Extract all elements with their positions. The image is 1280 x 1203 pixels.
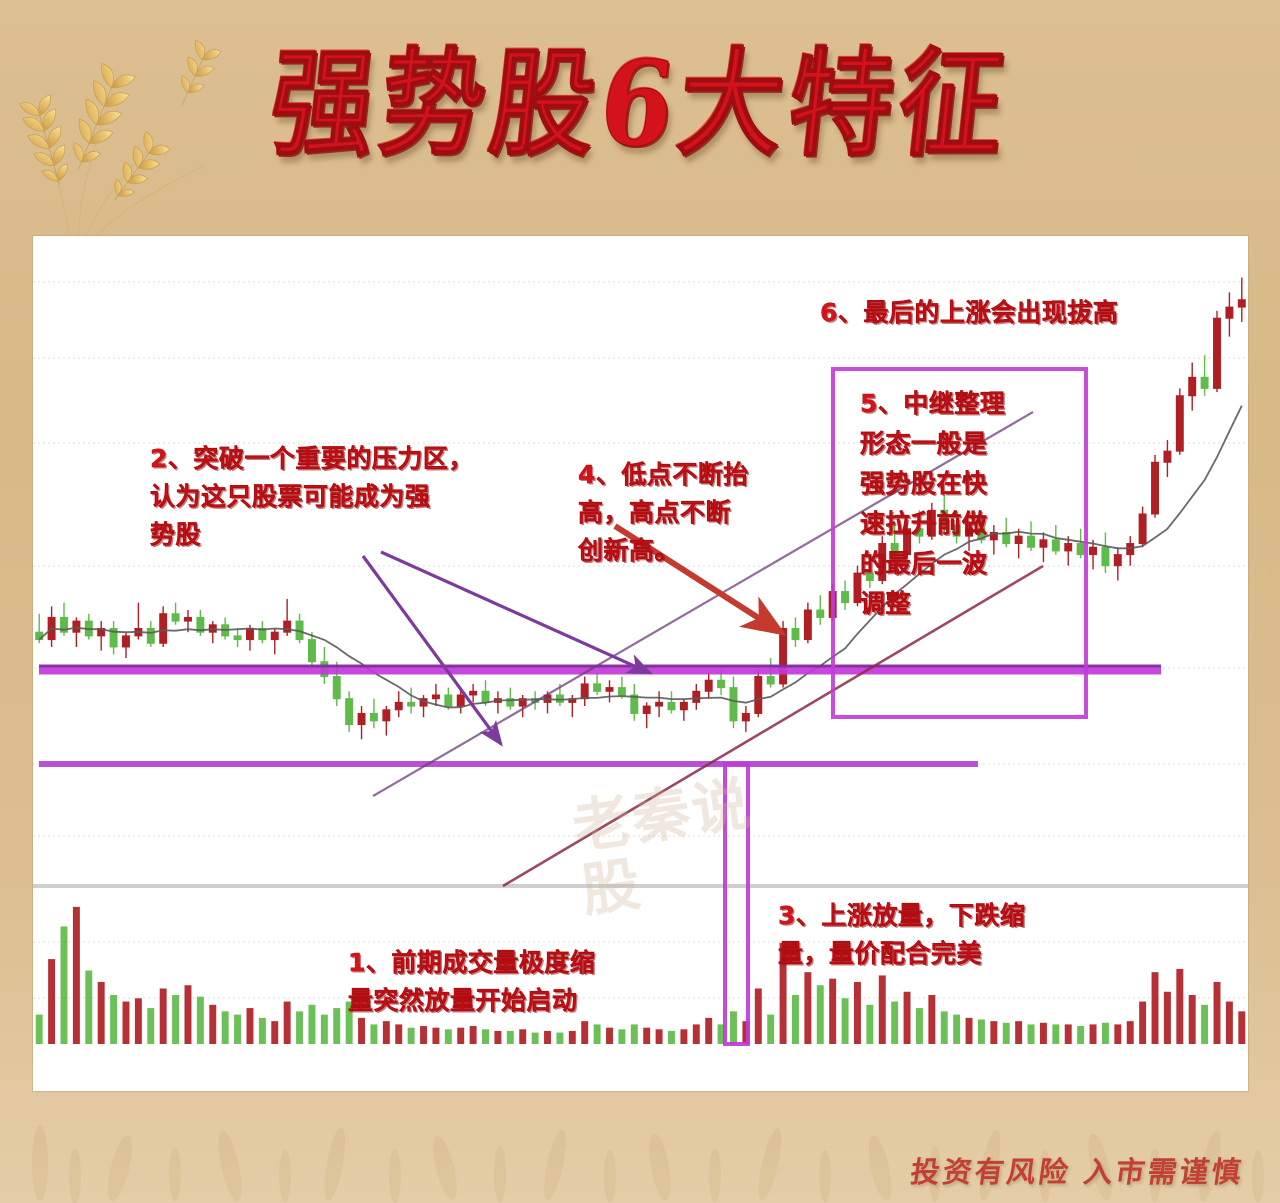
risk-disclaimer: 投资有风险 入市需谨慎 xyxy=(908,1149,1247,1191)
annotation-4: 4、低点不断抬 高，高点不断 创新高。 xyxy=(578,456,793,570)
annotation-1: 1、前期成交量极度缩 量突然放量开始启动 xyxy=(348,944,668,1020)
annotation-3: 3、上涨放量，下跌缩 量，量价配合完美 xyxy=(778,897,1108,973)
annotation-6: 6、最后的上涨会出现拔高 xyxy=(820,296,1240,330)
panel-divider xyxy=(33,884,1248,888)
annotation-2: 2、突破一个重要的压力区， 认为这只股票可能成为强 势股 xyxy=(150,440,550,554)
annotation-5: 5、中继整理 形态一般是 强势股在快 速拉升前做 的最后一波 调整 xyxy=(860,384,1055,624)
page-title: 强势股6大特征 xyxy=(0,37,1280,171)
resistance-line-upper xyxy=(39,666,1161,670)
title-banner: 强势股6大特征 xyxy=(0,44,1280,174)
